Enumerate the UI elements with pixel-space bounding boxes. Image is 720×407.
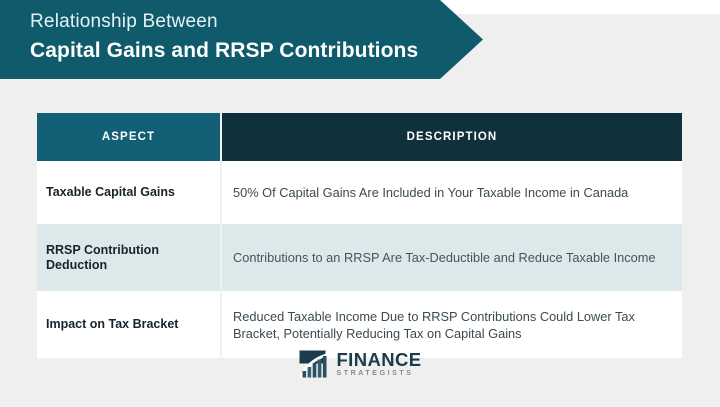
- column-header-aspect: ASPECT: [37, 113, 221, 161]
- table-header-row: ASPECT DESCRIPTION: [37, 113, 682, 161]
- finance-strategists-bars-icon: [298, 349, 331, 379]
- info-table-wrapper: ASPECT DESCRIPTION Taxable Capital Gains…: [37, 113, 682, 358]
- logo-text: FINANCE STRATEGISTS: [336, 351, 421, 378]
- logo-lockup: FINANCE STRATEGISTS: [298, 349, 421, 379]
- info-table: ASPECT DESCRIPTION Taxable Capital Gains…: [37, 113, 682, 358]
- table-head: ASPECT DESCRIPTION: [37, 113, 682, 161]
- header-title-line2: Capital Gains and RRSP Contributions: [30, 37, 483, 65]
- column-header-description: DESCRIPTION: [221, 113, 682, 161]
- table-row: RRSP Contribution Deduction Contribution…: [37, 224, 682, 291]
- header-title-line1: Relationship Between: [30, 9, 483, 35]
- row-aspect-label: RRSP Contribution Deduction: [37, 224, 221, 291]
- footer-logo: FINANCE STRATEGISTS: [0, 344, 720, 384]
- logo-word-finance: FINANCE: [336, 351, 421, 370]
- row-description-text: 50% Of Capital Gains Are Included in You…: [221, 161, 682, 224]
- table-body: Taxable Capital Gains 50% Of Capital Gai…: [37, 161, 682, 358]
- logo-word-strategists: STRATEGISTS: [336, 370, 421, 377]
- row-aspect-label: Taxable Capital Gains: [37, 161, 221, 224]
- table-row: Taxable Capital Gains 50% Of Capital Gai…: [37, 161, 682, 224]
- infographic-page: Relationship Between Capital Gains and R…: [0, 0, 720, 407]
- header-banner: Relationship Between Capital Gains and R…: [0, 0, 483, 79]
- row-description-text: Contributions to an RRSP Are Tax-Deducti…: [221, 224, 682, 291]
